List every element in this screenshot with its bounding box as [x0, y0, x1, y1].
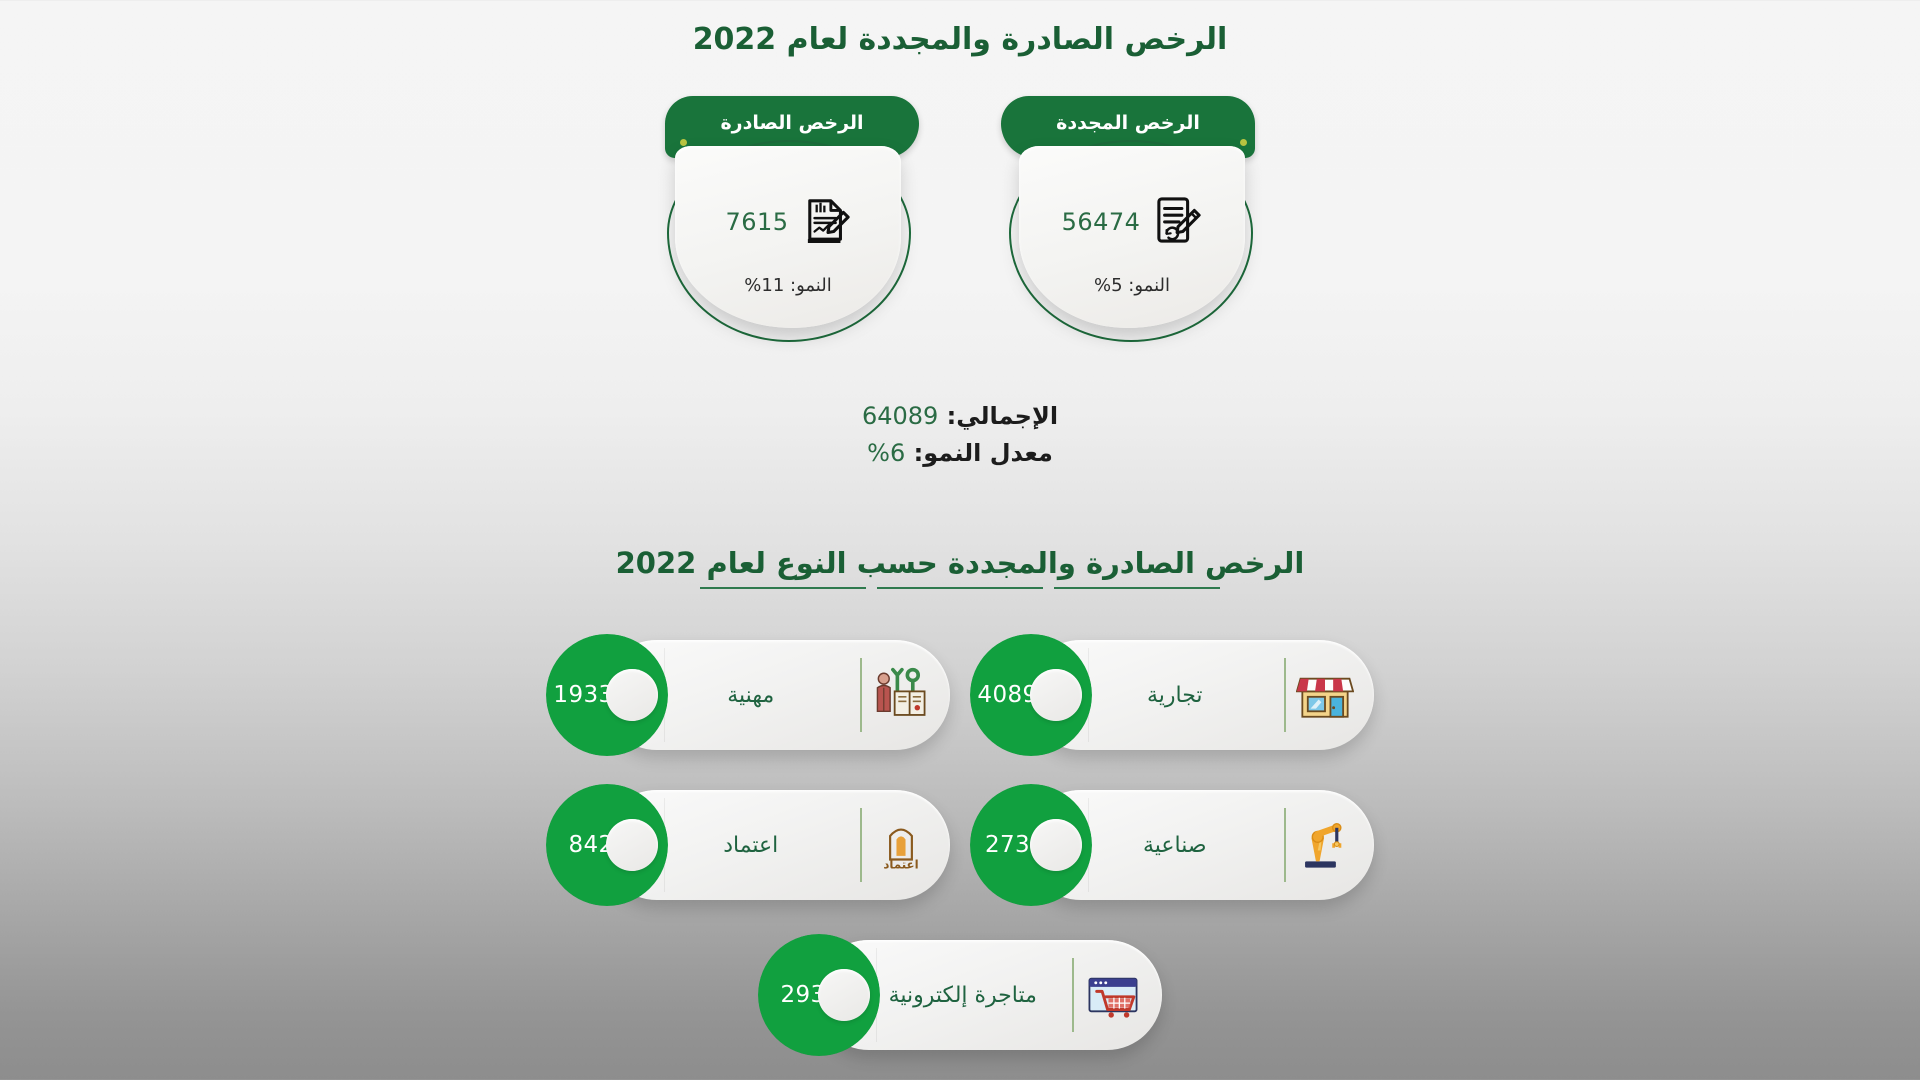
industrial-robot-arm-icon — [1290, 812, 1360, 878]
kpi-accent-dot-issued — [680, 139, 687, 146]
pill-left-cap — [606, 669, 658, 721]
kpi-body-issued: 7615 النمو: 11% — [675, 146, 901, 328]
growth-rate-value: 6% — [867, 439, 905, 467]
total-value: 64089 — [862, 402, 938, 430]
category-pill-ecommerce[interactable]: متاجرة إلكترونية 293 — [758, 934, 1162, 1056]
underline-segment-3 — [700, 587, 866, 589]
storefront-icon — [1290, 662, 1360, 728]
category-pill-grid: تجارية 40892 — [0, 634, 1920, 1080]
pill-left-cap — [818, 969, 870, 1021]
section-title-underline — [700, 587, 1220, 589]
pill-divider — [1284, 808, 1287, 882]
underline-segment-2 — [877, 587, 1043, 589]
infographic-canvas: الرخص الصادرة والمجددة لعام 2022 الرخص ا… — [0, 0, 1920, 1080]
pill-divider — [860, 808, 863, 882]
growth-rate-label: معدل النمو: — [914, 439, 1053, 467]
pill-left-cap — [606, 819, 658, 871]
category-pill-commercial[interactable]: تجارية 40892 — [970, 634, 1374, 756]
kpi-growth-issued: النمو: 11% — [744, 275, 831, 296]
kpi-value-row-issued: 7615 — [725, 197, 850, 247]
kpi-value-renewed: 56474 — [1062, 208, 1141, 236]
etimad-accreditation-icon: اعتماد — [866, 812, 936, 878]
professional-people-book-icon — [866, 662, 936, 728]
pill-divider — [1072, 958, 1075, 1032]
kpi-value-row-renewed: 56474 — [1062, 197, 1203, 247]
category-row-3: متاجرة إلكترونية 293 — [0, 934, 1920, 1056]
category-pill-industrial[interactable]: صناعية 2730 — [970, 784, 1374, 906]
growth-rate-line: معدل النمو: 6% — [0, 435, 1920, 472]
pill-left-cap — [1030, 669, 1082, 721]
section-title: الرخص الصادرة والمجددة حسب النوع لعام 20… — [0, 548, 1920, 580]
ecommerce-cart-browser-icon — [1078, 962, 1148, 1028]
kpi-card-renewed[interactable]: الرخص المجددة — [999, 96, 1261, 348]
pill-left-cap — [1030, 819, 1082, 871]
page-title: الرخص الصادرة والمجددة لعام 2022 — [0, 22, 1920, 57]
kpi-value-issued: 7615 — [725, 208, 788, 236]
section-title-block: الرخص الصادرة والمجددة حسب النوع لعام 20… — [0, 548, 1920, 589]
document-chart-pen-icon — [805, 197, 851, 247]
kpi-accent-dot-renewed — [1240, 139, 1247, 146]
total-line: الإجمالي: 64089 — [0, 398, 1920, 435]
kpi-card-row: الرخص المجددة — [0, 96, 1920, 348]
kpi-card-issued[interactable]: الرخص الصادرة — [659, 96, 921, 348]
category-pill-professional[interactable]: مهنية 19332 — [546, 634, 950, 756]
underline-segment-1 — [1054, 587, 1220, 589]
kpi-growth-renewed: النمو: 5% — [1094, 275, 1170, 296]
pill-divider — [1284, 658, 1287, 732]
category-row-1: تجارية 40892 — [0, 634, 1920, 756]
document-refresh-pen-icon — [1156, 197, 1202, 247]
totals-block: الإجمالي: 64089 معدل النمو: 6% — [0, 398, 1920, 472]
kpi-body-renewed: 56474 النمو: 5% — [1019, 146, 1245, 328]
pill-divider — [860, 658, 863, 732]
category-row-2: صناعية 2730 اعتماد — [0, 784, 1920, 906]
svg-text:اعتماد: اعتماد — [883, 858, 918, 872]
total-label: الإجمالي: — [947, 402, 1058, 430]
category-pill-accreditation[interactable]: اعتماد اعتماد 842 — [546, 784, 950, 906]
